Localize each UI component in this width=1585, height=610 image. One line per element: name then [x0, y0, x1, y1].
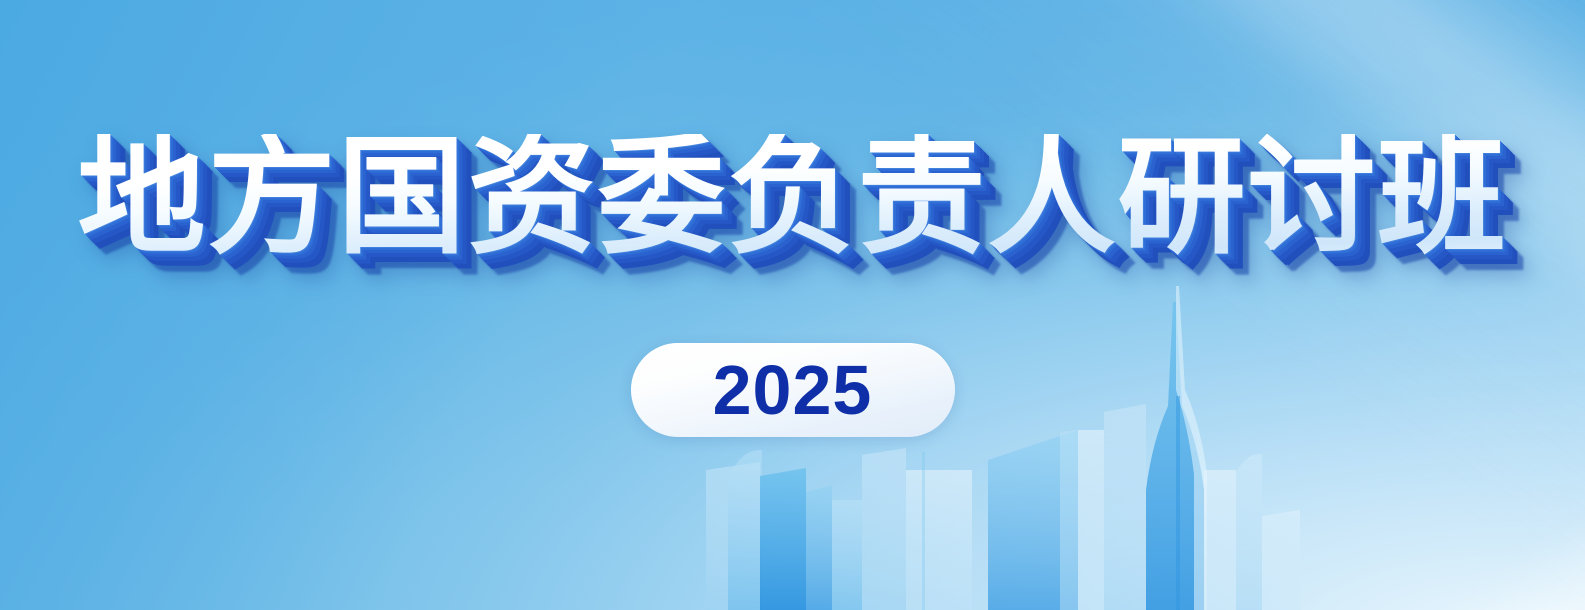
background-gradient-wash — [0, 0, 1585, 610]
city-skyline-icon — [0, 0, 1585, 610]
light-ribbon-bottom-right-icon — [1137, 394, 1585, 610]
page-title: 地方国资委负责人研讨班 — [0, 134, 1585, 262]
event-banner: 地方国资委负责人研讨班 2025 — [0, 0, 1585, 610]
light-ribbon-top-right-icon — [685, 0, 1585, 610]
light-ribbon-top-right-secondary-icon — [978, 0, 1585, 334]
year-badge: 2025 — [631, 343, 955, 437]
year-badge-label: 2025 — [713, 355, 873, 425]
